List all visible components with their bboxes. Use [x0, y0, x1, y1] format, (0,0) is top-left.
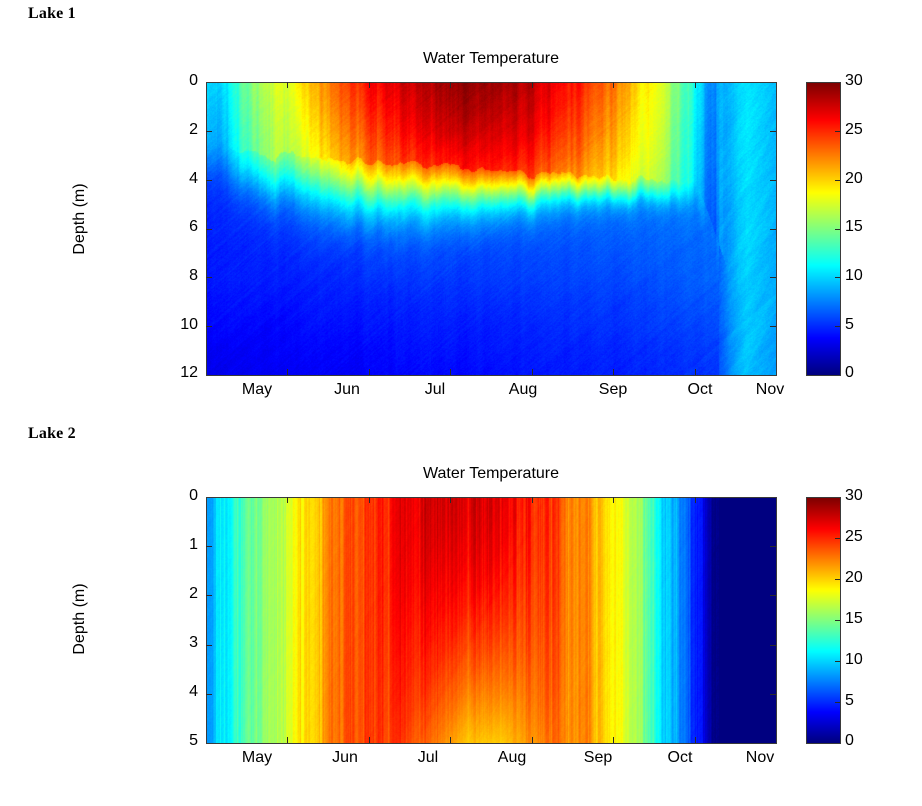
- xtick-label-lake1-jun: Jun: [312, 381, 382, 399]
- xtick-label-lake2-jun: Jun: [310, 749, 380, 767]
- xtick-label-lake1-sep: Sep: [578, 381, 648, 399]
- chart-title-lake-1: Water Temperature: [206, 50, 776, 68]
- y-tick-mark: [206, 546, 212, 547]
- xtick-label-lake1-oct: Oct: [665, 381, 735, 399]
- y-tick-mark: [770, 229, 776, 230]
- xtick-label-lake1-aug: Aug: [488, 381, 558, 399]
- x-tick-mark: [369, 737, 370, 743]
- colorbar-tick-lake1-5: 5: [845, 316, 854, 334]
- x-tick-mark: [532, 737, 533, 743]
- x-tick-mark: [369, 369, 370, 375]
- x-tick-mark: [695, 369, 696, 375]
- y-tick-mark: [770, 277, 776, 278]
- heatmap-canvas-lake-2: [207, 498, 776, 743]
- x-tick-mark: [369, 82, 370, 88]
- x-tick-mark: [369, 497, 370, 503]
- x-tick-mark: [450, 497, 451, 503]
- y-axis-label-lake-1: Depth (m): [71, 139, 89, 299]
- colorbar-tick-mark: [835, 538, 840, 539]
- x-tick-mark: [450, 737, 451, 743]
- xtick-label-lake1-may: May: [222, 381, 292, 399]
- y-tick-mark: [770, 326, 776, 327]
- y-tick-mark: [206, 645, 212, 646]
- x-tick-mark: [613, 369, 614, 375]
- x-tick-mark: [532, 369, 533, 375]
- colorbar-tick-lake2-10: 10: [845, 651, 863, 669]
- colorbar-tick-lake1-15: 15: [845, 218, 863, 236]
- colorbar-tick-mark: [835, 579, 840, 580]
- y-tick-mark: [770, 131, 776, 132]
- colorbar-tick-mark: [835, 326, 840, 327]
- y-tick-mark: [770, 645, 776, 646]
- x-tick-mark: [532, 497, 533, 503]
- xtick-label-lake2-aug: Aug: [477, 749, 547, 767]
- ytick-label-lake1-6: 6: [150, 218, 198, 236]
- ytick-label-lake1-2: 2: [150, 121, 198, 139]
- colorbar-tick-lake2-0: 0: [845, 732, 854, 750]
- y-tick-mark: [206, 229, 212, 230]
- panel-label-lake-1: Lake 1: [28, 5, 76, 23]
- x-tick-mark: [287, 82, 288, 88]
- panel-lake-1: Lake 1 Water Temperature Depth (m) 0 2 4…: [0, 0, 922, 420]
- ytick-label-lake2-2: 2: [150, 585, 198, 603]
- colorbar-tick-lake2-5: 5: [845, 692, 854, 710]
- y-tick-mark: [206, 277, 212, 278]
- y-tick-mark: [770, 546, 776, 547]
- colorbar-tick-lake2-15: 15: [845, 610, 863, 628]
- ytick-label-lake1-8: 8: [150, 267, 198, 285]
- y-tick-mark: [206, 595, 212, 596]
- ytick-label-lake2-4: 4: [150, 683, 198, 701]
- xtick-label-lake2-sep: Sep: [563, 749, 633, 767]
- ytick-label-lake1-10: 10: [150, 316, 198, 334]
- x-tick-mark: [613, 82, 614, 88]
- x-tick-mark: [287, 497, 288, 503]
- x-tick-mark: [287, 369, 288, 375]
- heatmap-plot-lake-2: [206, 497, 777, 744]
- colorbar-tick-lake1-30: 30: [845, 72, 863, 90]
- panel-label-lake-2: Lake 2: [28, 425, 76, 443]
- colorbar-tick-lake1-10: 10: [845, 267, 863, 285]
- ytick-label-lake2-1: 1: [150, 536, 198, 554]
- colorbar-tick-lake2-30: 30: [845, 487, 863, 505]
- ytick-label-lake1-4: 4: [150, 170, 198, 188]
- y-tick-mark: [206, 131, 212, 132]
- x-tick-mark: [613, 737, 614, 743]
- colorbar-tick-mark: [835, 277, 840, 278]
- heatmap-plot-lake-1: [206, 82, 777, 376]
- y-tick-mark: [206, 694, 212, 695]
- x-tick-mark: [287, 737, 288, 743]
- ytick-label-lake2-0: 0: [150, 487, 198, 505]
- xtick-label-lake2-nov: Nov: [725, 749, 795, 767]
- x-tick-mark: [532, 82, 533, 88]
- colorbar-tick-lake1-20: 20: [845, 170, 863, 188]
- xtick-label-lake1-nov: Nov: [735, 381, 805, 399]
- chart-title-lake-2: Water Temperature: [206, 465, 776, 483]
- colorbar-tick-lake1-0: 0: [845, 364, 854, 382]
- x-tick-mark: [695, 737, 696, 743]
- colorbar-tick-mark: [835, 229, 840, 230]
- y-axis-label-lake-2: Depth (m): [71, 539, 89, 699]
- xtick-label-lake1-jul: Jul: [400, 381, 470, 399]
- colorbar-tick-mark: [835, 131, 840, 132]
- colorbar-tick-mark: [835, 702, 840, 703]
- ytick-label-lake2-3: 3: [150, 634, 198, 652]
- y-tick-mark: [770, 180, 776, 181]
- y-tick-mark: [206, 180, 212, 181]
- heatmap-canvas-lake-1: [207, 83, 776, 375]
- ytick-label-lake1-12: 12: [150, 364, 198, 382]
- colorbar-tick-lake1-25: 25: [845, 121, 863, 139]
- colorbar-tick-lake2-20: 20: [845, 569, 863, 587]
- colorbar-tick-lake2-25: 25: [845, 528, 863, 546]
- panel-lake-2: Lake 2 Water Temperature Depth (m) 0 1 2…: [0, 420, 922, 806]
- ytick-label-lake2-5: 5: [150, 732, 198, 750]
- x-tick-mark: [450, 369, 451, 375]
- colorbar-tick-mark: [835, 620, 840, 621]
- y-tick-mark: [206, 326, 212, 327]
- xtick-label-lake2-oct: Oct: [645, 749, 715, 767]
- y-tick-mark: [770, 694, 776, 695]
- x-tick-mark: [695, 82, 696, 88]
- colorbar-tick-mark: [835, 180, 840, 181]
- xtick-label-lake2-jul: Jul: [393, 749, 463, 767]
- ytick-label-lake1-0: 0: [150, 72, 198, 90]
- xtick-label-lake2-may: May: [222, 749, 292, 767]
- y-tick-mark: [770, 595, 776, 596]
- colorbar-tick-mark: [835, 661, 840, 662]
- x-tick-mark: [695, 497, 696, 503]
- x-tick-mark: [613, 497, 614, 503]
- x-tick-mark: [450, 82, 451, 88]
